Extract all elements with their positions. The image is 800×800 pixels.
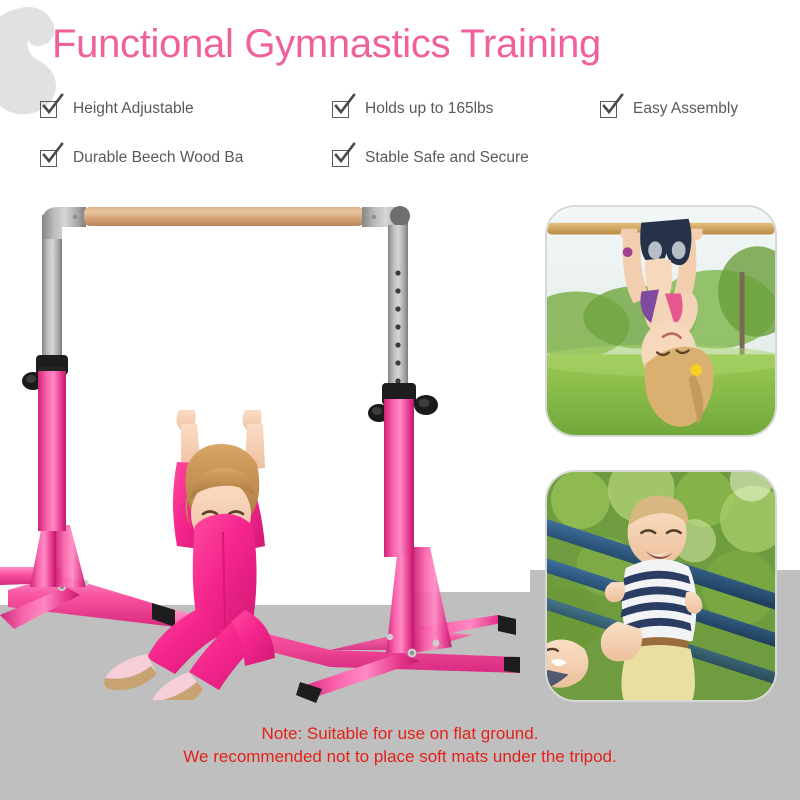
checkbox-checked-icon [332, 150, 349, 167]
product-marketing-image: Functional Gymnastics Training Height Ad… [0, 0, 800, 800]
feature-label: Holds up to 165lbs [365, 100, 493, 118]
feature-label: Stable Safe and Secure [365, 149, 529, 167]
feature-label: Durable Beech Wood Ba [73, 149, 243, 167]
feature-item-weight-capacity: Holds up to 165lbs [332, 100, 493, 118]
page-title: Functional Gymnastics Training [52, 22, 601, 66]
feature-item-easy-assembly: Easy Assembly [600, 100, 738, 118]
feature-label: Easy Assembly [633, 100, 738, 118]
checkbox-checked-icon [332, 101, 349, 118]
feature-list: Height Adjustable Holds up to 165lbs Eas… [0, 96, 800, 180]
checkbox-checked-icon [600, 101, 617, 118]
feature-label: Height Adjustable [73, 100, 194, 118]
checkbox-checked-icon [40, 101, 57, 118]
checkbox-checked-icon [40, 150, 57, 167]
product-gymnastics-bar [0, 195, 540, 695]
feature-item-beech-wood-bar: Durable Beech Wood Ba [40, 149, 243, 167]
inset-photo-girl-upside-down[interactable] [545, 205, 777, 437]
feature-item-stable-safe: Stable Safe and Secure [332, 149, 529, 167]
note-line-1: Note: Suitable for use on flat ground. [0, 722, 800, 745]
warning-note: Note: Suitable for use on flat ground. W… [0, 722, 800, 768]
girl-hanging-from-bar [95, 410, 345, 700]
note-line-2: We recommended not to place soft mats un… [0, 745, 800, 768]
inset-photo-boy-on-bars[interactable] [545, 470, 777, 702]
feature-item-height-adjustable: Height Adjustable [40, 100, 194, 118]
